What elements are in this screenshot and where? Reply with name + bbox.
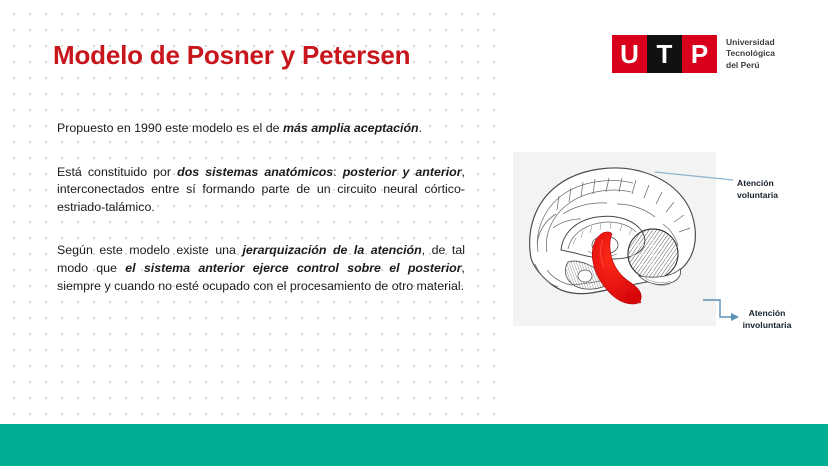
brain-sagittal-illustration [513,152,716,326]
paragraph-1-text-2: . [419,121,422,135]
logo-tile-u: U [612,35,647,73]
paragraph-2-text-2: : [333,165,343,179]
paragraph-2: Está constituido por dos sistemas anatóm… [57,164,465,217]
ventricle [578,270,592,282]
page-title: Modelo de Posner y Petersen [53,40,410,71]
logo-name-line-3: del Perú [726,60,775,71]
paragraph-3-emphasis-2: el sistema anterior ejerce control sobre… [125,261,461,275]
logo-tile-t: T [647,35,682,73]
paragraph-3: Según este modelo existe una jerarquizac… [57,242,465,295]
utp-logo-wordmark: Universidad Tecnológica del Perú [726,37,775,71]
paragraph-3-emphasis-1: jerarquización de la atención [242,243,421,257]
callout-voluntaria-line-2: voluntaria [737,190,778,202]
paragraph-1-text-1: Propuesto en 1990 este modelo es el de [57,121,283,135]
logo-name-line-1: Universidad [726,37,775,48]
logo-tile-p: P [682,35,717,73]
callout-voluntaria-line-1: Atención [737,178,778,190]
callout-atencion-involuntaria: Atención involuntaria [719,308,815,331]
brain-figure-panel [513,152,716,326]
callout-involuntaria-line-2: involuntaria [719,320,815,332]
callout-involuntaria-line-1: Atención [719,308,815,320]
utp-logo-mark: U T P [612,35,717,73]
logo-name-line-2: Tecnológica [726,48,775,59]
footer-accent-band [0,424,828,466]
paragraph-1: Propuesto en 1990 este modelo es el de m… [57,120,465,138]
paragraph-2-emphasis-2: posterior y anterior [343,165,462,179]
callout-atencion-voluntaria: Atención voluntaria [737,178,778,201]
body-copy: Propuesto en 1990 este modelo es el de m… [57,120,465,295]
utp-logo: U T P Universidad Tecnológica del Perú [612,35,775,73]
paragraph-2-emphasis-1: dos sistemas anatómicos [177,165,333,179]
slide-canvas: Modelo de Posner y Petersen U T P Univer… [0,0,828,466]
paragraph-2-text-1: Está constituido por [57,165,177,179]
paragraph-1-emphasis-1: más amplia aceptación [283,121,419,135]
paragraph-3-text-1: Según este modelo existe una [57,243,242,257]
